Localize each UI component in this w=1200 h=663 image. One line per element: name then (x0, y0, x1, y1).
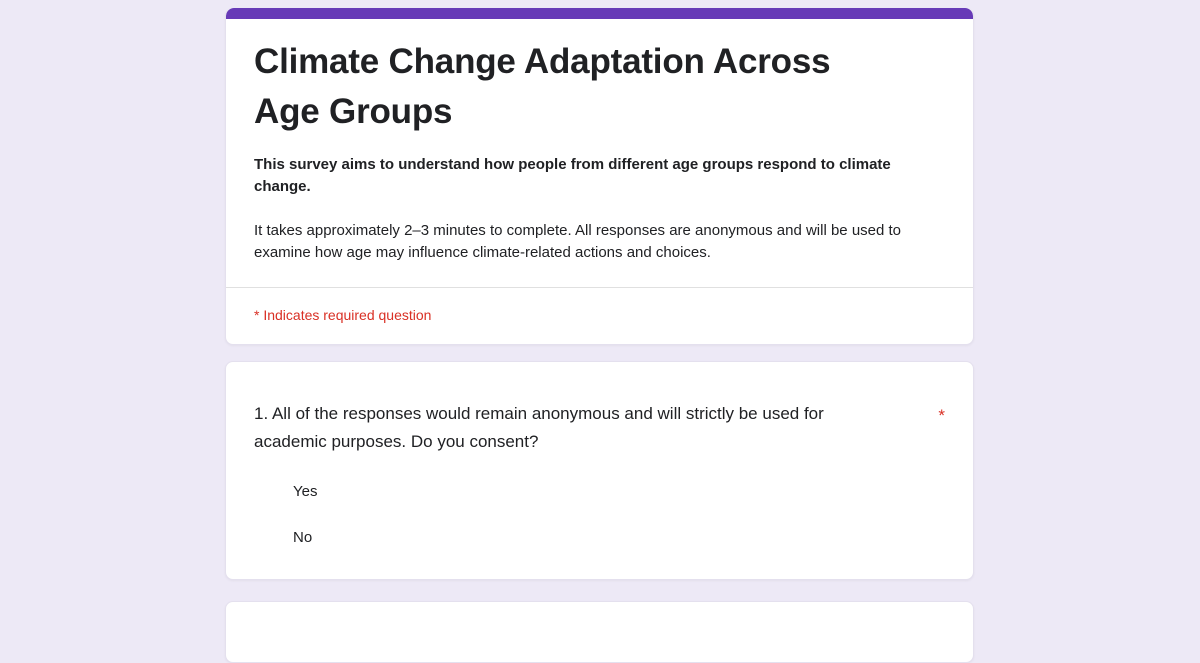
question-header-1: 1. All of the responses would remain ano… (254, 400, 945, 455)
form-description-secondary: It takes approximately 2–3 minutes to co… (254, 220, 944, 265)
form-header-body: Climate Change Adaptation Across Age Gro… (226, 19, 973, 287)
option-row-no[interactable]: No (293, 527, 945, 549)
option-label-no: No (293, 528, 312, 548)
form-description-primary: This survey aims to understand how peopl… (254, 154, 944, 198)
form-header-card: Climate Change Adaptation Across Age Gro… (225, 8, 974, 345)
option-row-yes[interactable]: Yes (293, 481, 945, 503)
question-card-2-partial (225, 601, 974, 663)
option-label-yes: Yes (293, 482, 317, 502)
form-column: Climate Change Adaptation Across Age Gro… (225, 0, 974, 663)
required-marker-1: * (938, 402, 945, 430)
form-title: Climate Change Adaptation Across Age Gro… (254, 37, 894, 136)
question-card-1: 1. All of the responses would remain ano… (225, 361, 974, 580)
form-accent-bar (226, 8, 973, 19)
question-options-1: Yes No (254, 481, 945, 549)
form-page: Climate Change Adaptation Across Age Gro… (0, 0, 1200, 630)
question-text-1: 1. All of the responses would remain ano… (254, 400, 894, 455)
required-question-note: * Indicates required question (226, 288, 973, 344)
